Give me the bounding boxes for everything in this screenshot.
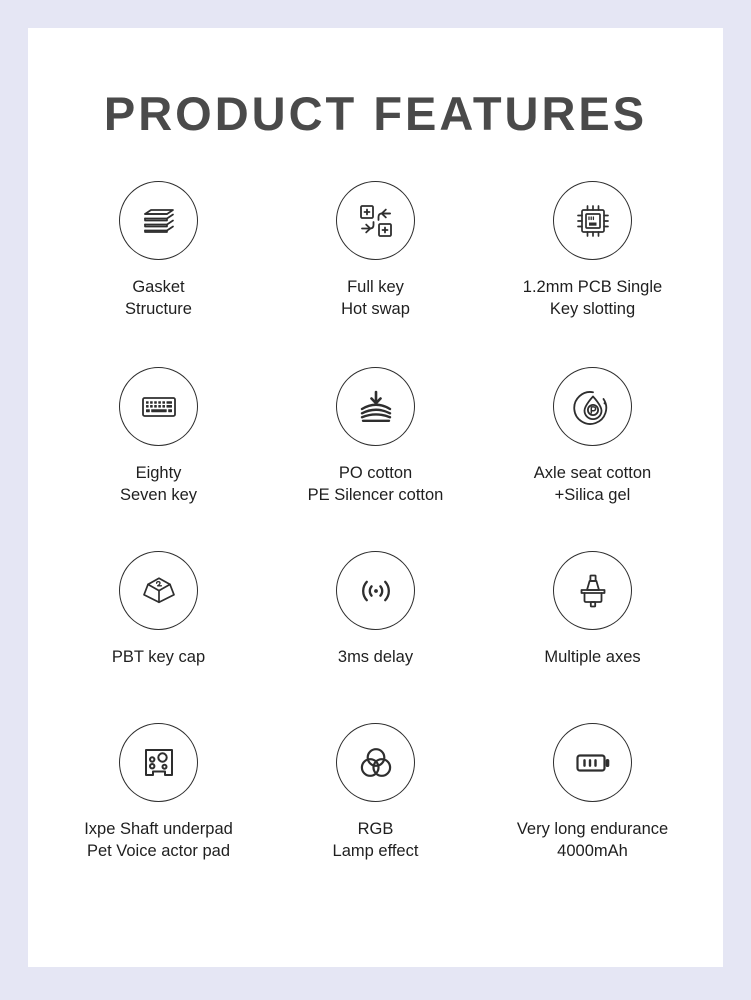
feature-label-line2: Key slotting xyxy=(523,299,662,321)
droplet-p-icon xyxy=(553,367,632,446)
features-row-4: Ixpe Shaft underpad Pet Voice actor pad … xyxy=(28,723,723,893)
features-row-2: Eighty Seven key PO cotton xyxy=(28,367,723,551)
feature-item-axle-seat-cotton: Axle seat cotton +Silica gel xyxy=(484,367,701,551)
feature-label: Multiple axes xyxy=(544,647,640,669)
feature-item-pbt-key-cap: PBT key cap xyxy=(50,551,267,723)
feature-label: Eighty Seven key xyxy=(120,463,197,507)
feature-label: PBT key cap xyxy=(112,647,205,669)
feature-label-line2: Hot swap xyxy=(341,299,410,321)
feature-label: Gasket Structure xyxy=(125,277,192,321)
feature-label: 1.2mm PCB Single Key slotting xyxy=(523,277,662,321)
feature-label-line2: Pet Voice actor pad xyxy=(84,841,233,863)
feature-label: Very long endurance 4000mAh xyxy=(517,819,668,863)
feature-label-line2: +Silica gel xyxy=(534,485,651,507)
feature-label-line2: 4000mAh xyxy=(517,841,668,863)
feature-item-po-cotton: PO cotton PE Silencer cotton xyxy=(267,367,484,551)
feature-label: 3ms delay xyxy=(338,647,413,669)
page-title: PRODUCT FEATURES xyxy=(28,90,723,137)
feature-item-3ms-delay: 3ms delay xyxy=(267,551,484,723)
feature-label-line1: Axle seat cotton xyxy=(534,464,651,482)
feature-item-battery-endurance: Very long endurance 4000mAh xyxy=(484,723,701,893)
feature-label: Full key Hot swap xyxy=(341,277,410,321)
feature-label-line2: Lamp effect xyxy=(333,841,419,863)
feature-label: Ixpe Shaft underpad Pet Voice actor pad xyxy=(84,819,233,863)
features-row-1: Gasket Structure xyxy=(28,181,723,367)
sound-absorb-icon xyxy=(336,367,415,446)
feature-label-line1: RGB xyxy=(358,820,394,838)
feature-item-multiple-axes: Multiple axes xyxy=(484,551,701,723)
feature-label: RGB Lamp effect xyxy=(333,819,419,863)
title-section: PRODUCT FEATURES xyxy=(28,28,723,137)
wireless-signal-icon xyxy=(336,551,415,630)
feature-label-line1: Ixpe Shaft underpad xyxy=(84,820,233,838)
keyboard-icon xyxy=(119,367,198,446)
hot-swap-icon xyxy=(336,181,415,260)
feature-label-line1: Very long endurance xyxy=(517,820,668,838)
feature-label-line2: Seven key xyxy=(120,485,197,507)
feature-label-line1: 1.2mm PCB Single xyxy=(523,278,662,296)
keycap-icon xyxy=(119,551,198,630)
feature-label-line1: Eighty xyxy=(136,464,182,482)
feature-item-hot-swap: Full key Hot swap xyxy=(267,181,484,367)
battery-icon xyxy=(553,723,632,802)
feature-label-line2: PE Silencer cotton xyxy=(308,485,444,507)
feature-item-gasket-structure: Gasket Structure xyxy=(50,181,267,367)
feature-item-rgb-lamp-effect: RGB Lamp effect xyxy=(267,723,484,893)
key-switch-icon xyxy=(553,551,632,630)
rgb-venn-icon xyxy=(336,723,415,802)
feature-label-line1: PBT key cap xyxy=(112,648,205,666)
feature-label-line1: 3ms delay xyxy=(338,648,413,666)
feature-label-line1: Multiple axes xyxy=(544,648,640,666)
feature-label: Axle seat cotton +Silica gel xyxy=(534,463,651,507)
feature-label-line1: Gasket xyxy=(132,278,184,296)
feature-item-eighty-seven-key: Eighty Seven key xyxy=(50,367,267,551)
feature-label-line1: Full key xyxy=(347,278,404,296)
poster-card: PRODUCT FEATURES xyxy=(28,28,723,967)
features-row-3: PBT key cap 3ms delay xyxy=(28,551,723,723)
feature-label-line1: PO cotton xyxy=(339,464,412,482)
feature-item-pcb-single-key-slotting: 1.2mm PCB Single Key slotting xyxy=(484,181,701,367)
layer-stack-icon xyxy=(119,181,198,260)
feature-label: PO cotton PE Silencer cotton xyxy=(308,463,444,507)
perforated-pad-icon xyxy=(119,723,198,802)
chip-icon xyxy=(553,181,632,260)
poster-frame: PRODUCT FEATURES xyxy=(0,0,751,1000)
feature-item-ixpe-shaft-underpad: Ixpe Shaft underpad Pet Voice actor pad xyxy=(50,723,267,893)
feature-label-line2: Structure xyxy=(125,299,192,321)
